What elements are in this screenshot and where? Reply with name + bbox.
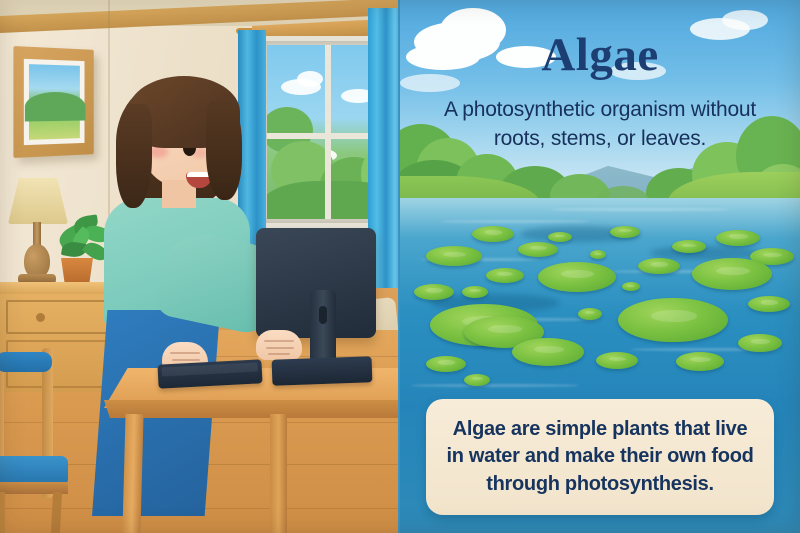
keyboard-keys: [162, 363, 258, 377]
algae-pad: [426, 246, 482, 266]
window-glass: [267, 45, 381, 219]
table-leg: [270, 414, 287, 533]
algae-pad: [486, 268, 524, 283]
table-leg: [122, 414, 143, 533]
algae-pad: [596, 352, 638, 369]
window-mullion-vertical: [325, 45, 331, 219]
monitor-stand-hole: [319, 306, 327, 324]
algae-pad: [462, 286, 488, 298]
algae-pad: [464, 374, 490, 386]
algae-pad: [748, 296, 790, 312]
algae-pad: [590, 250, 606, 259]
algae-pad: [610, 226, 640, 238]
cloud-icon: [297, 71, 323, 87]
drawer-knob: [36, 313, 45, 322]
algae-pad: [512, 338, 584, 366]
wooden-table-edge: [104, 400, 400, 418]
algae-pad: [426, 356, 466, 372]
subtitle: A photosynthetic organism without roots,…: [418, 96, 782, 154]
window-mullion-horizontal: [267, 133, 381, 139]
girl-hand: [256, 330, 302, 360]
caption-text: Algae are simple plants that live in wat…: [442, 416, 758, 498]
caption-box: Algae are simple plants that live in wat…: [426, 399, 774, 515]
framed-landscape-picture: [13, 46, 93, 158]
lamp-body: [24, 244, 50, 278]
algae-pad: [618, 298, 728, 342]
chair-backrest: [0, 352, 52, 372]
chair-leg: [0, 492, 5, 533]
algae-pad: [578, 308, 602, 320]
algae-flashcard: Algae A photosynthetic organism without …: [0, 0, 800, 533]
algae-pad: [472, 226, 514, 242]
picture-hill: [25, 91, 86, 121]
page-title: Algae: [400, 28, 800, 82]
algae-pad: [622, 282, 640, 291]
algae-pad: [676, 352, 724, 371]
algae-pad: [692, 258, 772, 290]
right-photo-panel: Algae A photosynthetic organism without …: [400, 0, 800, 533]
left-illustration-panel: [0, 0, 400, 533]
algae-pad: [548, 232, 572, 242]
algae-pad: [672, 240, 706, 253]
algae-pad: [716, 230, 760, 246]
tree-icon: [267, 181, 381, 219]
girl-hair-side: [206, 100, 242, 200]
algae-pad: [638, 258, 680, 274]
tablet-stand-base[interactable]: [272, 356, 373, 385]
girl-hair-side: [116, 104, 152, 208]
algae-pad: [518, 242, 558, 257]
algae-pad: [738, 334, 782, 352]
picture-artwork: [29, 64, 80, 140]
cloud-icon: [722, 10, 768, 30]
algae-pad: [414, 284, 454, 300]
algae-pad: [538, 262, 616, 292]
picture-mat: [24, 59, 85, 145]
